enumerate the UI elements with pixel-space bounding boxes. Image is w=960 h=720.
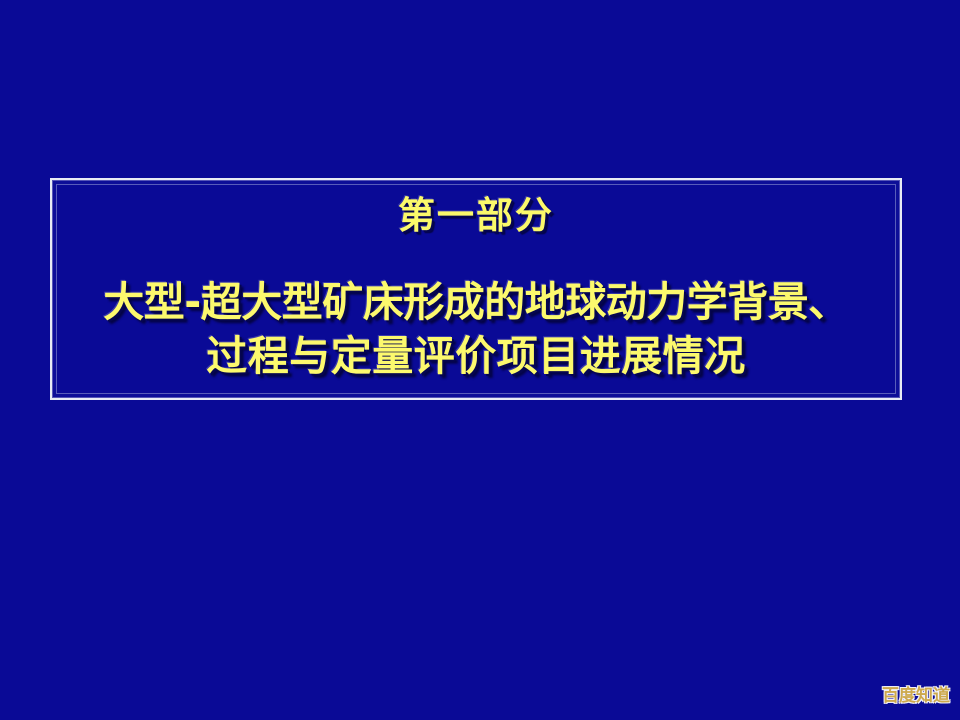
title-frame: 第一部分 大型-超大型矿床形成的地球动力学背景、 过程与定量评价项目进展情况 [50,178,902,400]
section-heading: 第一部分 [52,194,900,238]
slide-title-block: 大型-超大型矿床形成的地球动力学背景、 过程与定量评价项目进展情况 [52,275,900,383]
slide-title-line-1: 大型-超大型矿床形成的地球动力学背景、 [52,275,900,329]
slide-title-line-2: 过程与定量评价项目进展情况 [52,329,900,383]
presentation-slide: 第一部分 大型-超大型矿床形成的地球动力学背景、 过程与定量评价项目进展情况 百… [0,0,960,720]
baidu-zhidao-watermark: 百度知道 [882,681,950,706]
